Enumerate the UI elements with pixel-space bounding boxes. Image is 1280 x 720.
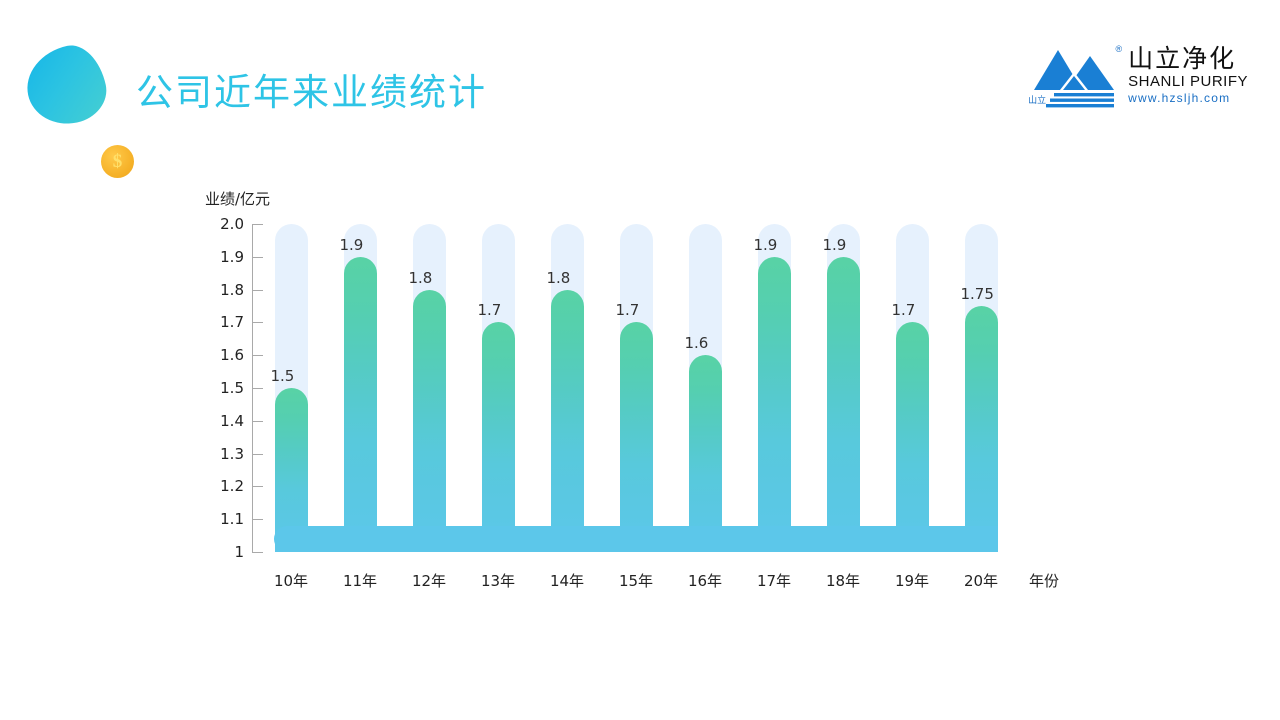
y-axis-tick-label: 1.2 <box>220 477 244 495</box>
bar-value-label: 1.9 <box>754 236 778 254</box>
bar-value-label: 1.8 <box>547 269 571 287</box>
bar-value-label: 1.9 <box>340 236 364 254</box>
bar[interactable] <box>689 355 722 552</box>
y-axis-tick <box>252 355 263 356</box>
x-axis-title: 年份 <box>1029 570 1059 591</box>
x-axis-tick-label: 18年 <box>826 570 860 591</box>
bar[interactable] <box>482 322 515 552</box>
bar[interactable] <box>551 290 584 552</box>
performance-bar-chart: 业绩/亿元 2.01.91.81.71.61.51.41.31.21.11 1.… <box>200 188 1100 588</box>
bar[interactable] <box>827 257 860 552</box>
logo-chinese-name: 山立净化 <box>1128 46 1248 71</box>
y-axis-tick-label: 1 <box>234 543 244 561</box>
y-axis-tick <box>252 290 263 291</box>
y-axis-tick-label: 1.8 <box>220 281 244 299</box>
registered-mark: ® <box>1116 44 1123 54</box>
y-axis-tick <box>252 388 263 389</box>
x-axis-tick-label: 14年 <box>550 570 584 591</box>
y-axis-tick-label: 2.0 <box>220 215 244 233</box>
plot-area: 2.01.91.81.71.61.51.41.31.21.11 1.51.91.… <box>252 224 1002 552</box>
y-axis-tick <box>252 224 263 225</box>
page-title: 公司近年来业绩统计 <box>136 62 487 116</box>
bar[interactable] <box>965 306 998 552</box>
bars-group: 1.51.91.81.71.81.71.61.91.91.71.75 <box>274 224 1002 552</box>
company-logo: ® 山立 山立净化 SHANLI PURIFY www.hzsljh.com <box>1028 46 1248 108</box>
y-axis-tick <box>252 421 263 422</box>
bar[interactable] <box>344 257 377 552</box>
x-axis-tick-label: 12年 <box>412 570 446 591</box>
logo-mark-label: 山立 <box>1028 93 1046 106</box>
bar[interactable] <box>896 322 929 552</box>
x-axis-tick-label: 19年 <box>895 570 929 591</box>
x-axis-tick-label: 15年 <box>619 570 653 591</box>
logo-text-block: 山立净化 SHANLI PURIFY www.hzsljh.com <box>1128 46 1248 104</box>
x-axis-tick-label: 16年 <box>688 570 722 591</box>
x-axis-tick-label: 11年 <box>343 570 377 591</box>
bar-value-label: 1.8 <box>409 269 433 287</box>
x-axis-tick-label: 13年 <box>481 570 515 591</box>
bar[interactable] <box>758 257 791 552</box>
x-axis-tick-label: 17年 <box>757 570 791 591</box>
bar-value-label: 1.7 <box>892 301 916 319</box>
x-axis-tick-label: 20年 <box>964 570 998 591</box>
y-axis-tick <box>252 552 263 553</box>
bar-value-label: 1.7 <box>616 301 640 319</box>
x-axis-tick-label: 10年 <box>274 570 308 591</box>
dollar-symbol: $ <box>113 152 123 171</box>
logo-english-name: SHANLI PURIFY <box>1128 74 1248 89</box>
bar[interactable] <box>620 322 653 552</box>
bar-value-label: 1.6 <box>685 334 709 352</box>
y-axis-tick-label: 1.1 <box>220 510 244 528</box>
y-axis-tick <box>252 519 263 520</box>
bar-value-label: 1.9 <box>823 236 847 254</box>
y-axis-tick-label: 1.3 <box>220 445 244 463</box>
y-axis-tick <box>252 454 263 455</box>
bar[interactable] <box>413 290 446 552</box>
bar-value-label: 1.5 <box>271 367 295 385</box>
y-axis-tick <box>252 257 263 258</box>
y-axis-tick-label: 1.5 <box>220 379 244 397</box>
mountain-logo-icon: ® 山立 <box>1028 46 1120 108</box>
y-axis-tick <box>252 486 263 487</box>
bar-base-strip <box>274 526 998 552</box>
y-axis-tick-label: 1.6 <box>220 346 244 364</box>
y-axis-tick-label: 1.4 <box>220 412 244 430</box>
y-axis-tick-label: 1.7 <box>220 313 244 331</box>
bar-value-label: 1.7 <box>478 301 502 319</box>
y-axis-title: 业绩/亿元 <box>205 188 270 209</box>
bar-value-label: 1.75 <box>961 285 994 303</box>
decorative-blob <box>20 40 112 132</box>
logo-website-url: www.hzsljh.com <box>1128 92 1248 104</box>
dollar-coin-icon: $ <box>101 145 134 178</box>
y-axis-tick-label: 1.9 <box>220 248 244 266</box>
y-axis-tick <box>252 322 263 323</box>
